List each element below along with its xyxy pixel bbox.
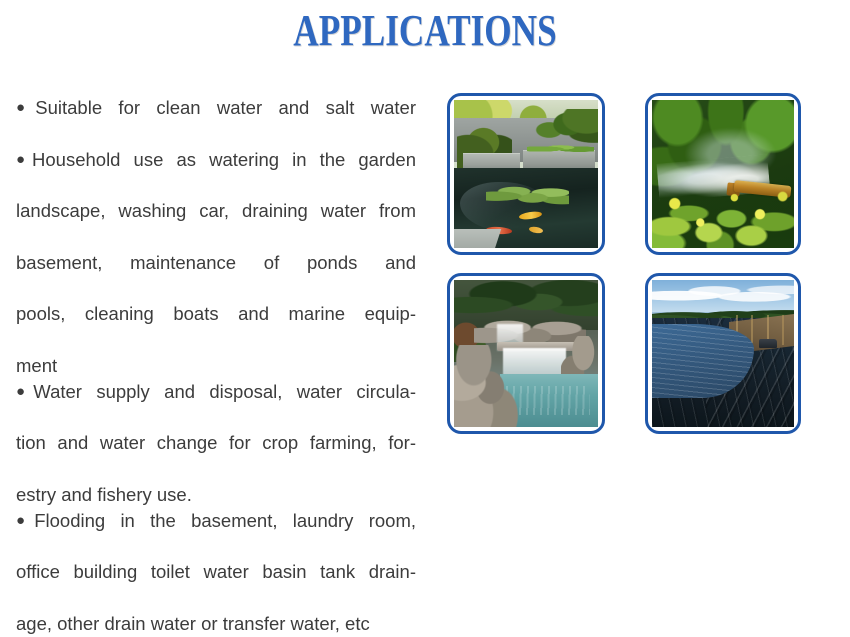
photo-frame-pond: [447, 93, 605, 255]
feature-line: ●Flooding in the basement, laundry room,: [16, 508, 416, 560]
photo-koi-pond-image: [454, 100, 598, 248]
feature-line: age, other drain water or transfer water…: [16, 611, 416, 637]
photo-lined-reservoir-image: [652, 280, 794, 427]
feature-line: ●Household use as watering in the garden: [16, 147, 416, 199]
bullet-icon: ●: [16, 151, 32, 168]
feature-line: tion and water change for crop farming, …: [16, 430, 416, 482]
photo-frame-sprinkler: [645, 93, 801, 255]
pond-lily-pads: [486, 183, 570, 207]
feature-line: ment: [16, 353, 416, 379]
waterfall-left-rocks: [454, 345, 520, 427]
feature-line: pools, cleaning boats and marine equip-: [16, 301, 416, 353]
photo-garden-sprinkler-image: [652, 100, 794, 248]
photo-frame-waterfall: [447, 273, 605, 434]
feature-line: ●Suitable for clean water and salt water: [16, 95, 416, 147]
feature-line-text: age, other drain water or transfer water…: [16, 613, 370, 634]
feature-line-text: Household use as watering in the garden: [32, 149, 416, 170]
feature-line-text: office building toilet water basin tank …: [16, 561, 416, 582]
applications-feature-list: ●Suitable for clean water and salt water…: [16, 95, 416, 637]
bullet-icon: ●: [16, 383, 33, 400]
bullet-icon: ●: [16, 512, 34, 529]
feature-line-text: basement, maintenance of ponds and: [16, 252, 416, 273]
feature-line: ●Water supply and disposal, water circul…: [16, 379, 416, 431]
feature-line: office building toilet water basin tank …: [16, 559, 416, 611]
feature-line-text: Suitable for clean water and salt water: [35, 97, 416, 118]
feature-line-text: ment: [16, 355, 57, 376]
page-title: APPLICATIONS: [85, 8, 765, 54]
feature-line: estry and fishery use.: [16, 482, 416, 508]
feature-line-text: landscape, washing car, draining water f…: [16, 200, 416, 221]
feature-line-text: Flooding in the basement, laundry room,: [34, 510, 416, 531]
photo-rock-waterfall-image: [454, 280, 598, 427]
pond-deck-edge: [454, 229, 501, 248]
feature-line: basement, maintenance of ponds and: [16, 250, 416, 302]
feature-line: landscape, washing car, draining water f…: [16, 198, 416, 250]
feature-line-text: pools, cleaning boats and marine equip-: [16, 303, 416, 324]
feature-line-text: estry and fishery use.: [16, 484, 192, 505]
feature-line-text: tion and water change for crop farming, …: [16, 432, 416, 453]
sprinkler-yellow-flowers: [652, 180, 794, 239]
photo-frame-reservoir: [645, 273, 801, 434]
reservoir-vehicle: [759, 339, 777, 348]
bullet-icon: ●: [16, 99, 35, 116]
feature-line-text: Water supply and disposal, water circula…: [33, 381, 416, 402]
